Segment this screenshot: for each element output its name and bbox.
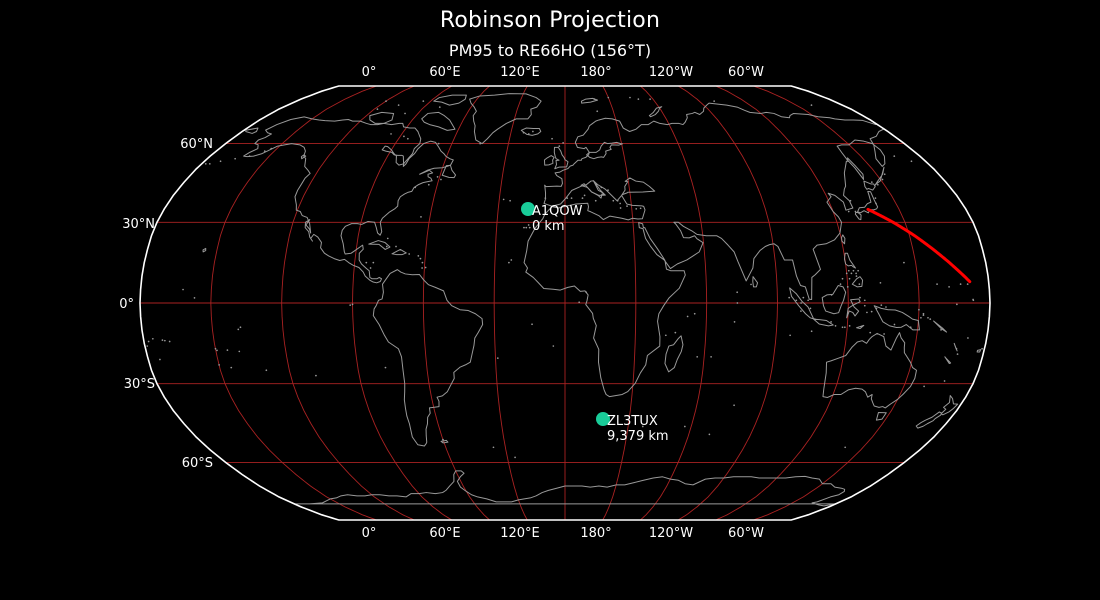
lon-tick-bottom: 60°W — [728, 526, 764, 541]
island-dot — [795, 299, 797, 301]
station-callsign-a1qow: A1QOW — [532, 204, 583, 219]
island-dot — [871, 181, 873, 183]
island-dot — [551, 138, 553, 140]
island-dot — [649, 98, 651, 100]
island-dot — [387, 238, 389, 240]
island-dot — [395, 246, 397, 248]
island-dot — [385, 367, 387, 369]
coastline-hawaii — [203, 248, 206, 251]
coastline-timor — [857, 325, 864, 328]
island-dot — [493, 446, 495, 448]
island-dot — [972, 299, 974, 301]
island-dot — [531, 323, 533, 325]
island-dot — [607, 97, 609, 99]
island-dot — [967, 337, 969, 339]
island-dot — [528, 224, 530, 226]
island-dot — [884, 173, 886, 175]
island-dot — [510, 259, 512, 261]
coastline-cuba — [369, 241, 390, 250]
island-dot — [948, 286, 950, 288]
island-dot — [270, 148, 272, 150]
island-dot — [894, 324, 896, 326]
island-dot — [665, 334, 667, 336]
island-dot — [856, 275, 858, 277]
coastline-new-caledonia — [945, 357, 951, 364]
island-dot — [370, 267, 372, 269]
coastline-british-isles — [554, 147, 568, 168]
island-dot — [582, 197, 584, 199]
island-dot — [885, 306, 887, 308]
island-dot — [216, 350, 218, 352]
island-dot — [807, 299, 809, 301]
island-dot — [849, 325, 851, 327]
coastline-japan-hokkaido — [864, 181, 875, 190]
coastline-victoria-is — [370, 112, 394, 123]
island-dot — [903, 262, 905, 264]
island-dot — [227, 349, 229, 351]
island-dot — [871, 311, 873, 313]
island-dot — [390, 133, 392, 135]
island-dot — [422, 100, 424, 102]
island-dot — [923, 386, 925, 388]
island-dot — [911, 160, 913, 162]
island-dot — [593, 98, 595, 100]
lon-tick-bottom: 60°E — [429, 526, 460, 541]
island-dot — [596, 110, 598, 112]
island-dot — [893, 155, 895, 157]
island-dot — [525, 227, 527, 229]
island-dot — [918, 309, 920, 311]
map-figure: Robinson Projection PM95 to RE66HO (156°… — [0, 0, 1100, 600]
island-dot — [620, 207, 622, 209]
island-dot — [696, 356, 698, 358]
island-dot — [855, 273, 857, 275]
coastline-vanuatu — [954, 343, 957, 351]
island-dot — [859, 297, 861, 299]
island-dot — [831, 294, 833, 296]
island-dot — [385, 100, 387, 102]
island-dot — [404, 113, 406, 115]
island-dot — [438, 143, 440, 145]
coastline-falklands — [441, 440, 448, 443]
island-dot — [929, 318, 931, 320]
island-dot — [552, 345, 554, 347]
island-dot — [220, 160, 222, 162]
island-dot — [532, 131, 534, 133]
lat-tick-left: 60°S — [182, 456, 213, 471]
lon-tick-bottom: 0° — [362, 526, 377, 541]
island-dot — [940, 329, 942, 331]
coastline-java — [814, 319, 834, 326]
island-dot — [528, 133, 530, 135]
island-dot — [855, 211, 857, 213]
lon-tick-top: 60°E — [429, 65, 460, 80]
island-dot — [420, 258, 422, 260]
coastline-tasmania — [876, 412, 886, 420]
island-dot — [842, 326, 844, 328]
island-dot — [789, 334, 791, 336]
robinson-map-canvas[interactable]: A1QOW0 kmZL3TUX9,379 km 0°60°E120°E180°1… — [0, 0, 1100, 600]
lon-tick-top: 60°W — [728, 65, 764, 80]
coastline-australia — [823, 333, 917, 408]
island-dot — [638, 98, 640, 100]
coastline-fiji — [977, 350, 981, 352]
island-dot — [880, 304, 882, 306]
island-dot — [960, 283, 962, 285]
coastline-ireland — [544, 156, 554, 166]
island-dot — [687, 316, 689, 318]
island-dot — [866, 312, 868, 314]
island-dot — [425, 267, 427, 269]
island-dot — [750, 284, 752, 286]
station-callsign-zl3tux: ZL3TUX — [607, 414, 658, 429]
lat-tick-left: 60°N — [180, 137, 213, 152]
lon-tick-top: 180° — [580, 65, 611, 80]
lat-tick-left: 30°S — [124, 377, 155, 392]
island-dot — [421, 267, 423, 269]
island-dot — [509, 200, 511, 202]
island-dot — [848, 211, 850, 213]
island-dot — [920, 317, 922, 319]
island-dot — [146, 345, 148, 347]
island-dot — [936, 283, 938, 285]
island-dot — [864, 305, 866, 307]
island-dot — [562, 142, 564, 144]
island-dot — [442, 439, 444, 441]
coastline-south-america — [373, 270, 482, 446]
island-dot — [508, 262, 510, 264]
island-dot — [619, 203, 621, 205]
island-dot — [558, 145, 560, 147]
island-dot — [674, 332, 676, 334]
coastline-antarctica — [294, 471, 844, 506]
coastline-greenland — [470, 94, 541, 144]
island-dot — [372, 262, 374, 264]
island-dot — [414, 187, 416, 189]
island-dot — [635, 208, 637, 210]
island-dot — [215, 348, 217, 350]
island-dot — [859, 283, 861, 285]
island-dot — [810, 308, 812, 310]
coastline-iceland — [521, 128, 540, 135]
island-dot — [420, 216, 422, 218]
island-dot — [710, 356, 712, 358]
island-dot — [842, 278, 844, 280]
island-dot — [209, 163, 211, 165]
lon-tick-top: 120°W — [649, 65, 693, 80]
island-dot — [439, 106, 441, 108]
island-dot — [440, 179, 442, 181]
island-dot — [840, 283, 842, 285]
coastline-nz-south — [916, 412, 941, 428]
island-dot — [152, 338, 154, 340]
island-dot — [850, 200, 852, 202]
island-dot — [612, 200, 614, 202]
island-dot — [733, 404, 735, 406]
island-dot — [844, 446, 846, 448]
island-dot — [848, 270, 850, 272]
island-dot — [428, 184, 430, 186]
island-dot — [629, 97, 631, 99]
island-dot — [910, 326, 912, 328]
coastline-sri-lanka — [753, 277, 758, 287]
island-dot — [811, 330, 813, 332]
island-dot — [566, 197, 568, 199]
island-dot — [788, 297, 790, 299]
island-dot — [883, 333, 885, 335]
island-dot — [595, 200, 597, 202]
island-dot — [927, 317, 929, 319]
island-dot — [205, 163, 207, 165]
island-dot — [811, 104, 813, 106]
island-dot — [164, 340, 166, 342]
island-dot — [264, 150, 266, 152]
island-dot — [882, 179, 884, 181]
island-dot — [846, 273, 848, 275]
island-dot — [162, 339, 164, 341]
island-dot — [734, 321, 736, 323]
island-dot — [265, 369, 267, 371]
island-dot — [876, 308, 878, 310]
coastline-madagascar — [665, 336, 683, 372]
island-dot — [523, 132, 525, 134]
lat-tick-left: 30°N — [122, 217, 155, 232]
coastline-borneo — [822, 286, 845, 314]
island-dot — [944, 380, 946, 382]
island-dot — [857, 270, 859, 272]
island-dot — [877, 184, 879, 186]
island-dot — [713, 100, 715, 102]
island-dot — [849, 278, 851, 280]
coastline-novaya-zemlya — [649, 107, 661, 117]
island-dot — [234, 158, 236, 160]
coastline-japan-kyushu — [855, 212, 861, 219]
island-dot — [398, 104, 400, 106]
island-dot — [544, 197, 546, 199]
island-dot — [802, 297, 804, 299]
island-dot — [800, 302, 802, 304]
island-dot — [640, 207, 642, 209]
station-distance-a1qow: 0 km — [532, 219, 565, 234]
island-dot — [844, 326, 846, 328]
island-dot — [607, 189, 609, 191]
island-dot — [349, 304, 351, 306]
island-dot — [956, 348, 958, 350]
island-dot — [422, 262, 424, 264]
island-dot — [981, 348, 983, 350]
island-dot — [923, 313, 925, 315]
island-dot — [169, 341, 171, 343]
coastline-ellesmere — [434, 95, 467, 105]
island-dot — [584, 195, 586, 197]
island-dot — [694, 313, 696, 315]
island-dot — [578, 301, 580, 303]
island-dot — [709, 434, 711, 436]
island-dot — [736, 291, 738, 293]
island-dot — [601, 187, 603, 189]
island-dot — [218, 364, 220, 366]
island-dot — [956, 304, 958, 306]
great-circle-path — [868, 209, 970, 281]
island-dot — [408, 253, 410, 255]
island-dot — [529, 227, 531, 229]
island-dot — [875, 197, 877, 199]
coastline-sakhalin — [847, 158, 863, 180]
island-dot — [503, 199, 505, 201]
lon-tick-bottom: 120°E — [500, 526, 540, 541]
island-dot — [847, 286, 849, 288]
island-dot — [352, 304, 354, 306]
island-dot — [523, 227, 525, 229]
island-dot — [148, 341, 150, 343]
coastline-new-guinea — [874, 306, 919, 330]
island-dot — [585, 291, 587, 293]
island-dot — [237, 329, 239, 331]
island-dot — [830, 321, 832, 323]
lon-tick-bottom: 180° — [580, 526, 611, 541]
island-dot — [238, 351, 240, 353]
island-dot — [684, 426, 686, 428]
island-dot — [365, 262, 367, 264]
lon-tick-top: 0° — [362, 65, 377, 80]
station-distance-zl3tux: 9,379 km — [607, 429, 669, 444]
coastline-north-america — [244, 117, 454, 283]
lat-tick-left: 0° — [119, 297, 134, 312]
island-dot — [851, 273, 853, 275]
coastline-baffin — [422, 112, 455, 130]
island-dot — [377, 108, 379, 110]
coastline-scandinavia-baltic — [587, 142, 623, 158]
island-dot — [417, 255, 419, 257]
island-dot — [875, 203, 877, 205]
island-dot — [617, 200, 619, 202]
island-dot — [514, 457, 516, 459]
coastline-eurasia-africa — [545, 103, 876, 187]
island-dot — [403, 135, 405, 137]
island-dot — [194, 297, 196, 299]
island-dot — [159, 359, 161, 361]
island-dot — [315, 375, 317, 377]
great-circle-line — [868, 209, 970, 281]
island-dot — [967, 283, 969, 285]
lon-tick-top: 120°E — [500, 65, 540, 80]
island-dot — [626, 205, 628, 207]
coastline-solomon — [934, 321, 947, 332]
island-dot — [957, 353, 959, 355]
island-dot — [249, 155, 251, 157]
lon-tick-bottom: 120°W — [649, 526, 693, 541]
island-dot — [571, 197, 573, 199]
island-dot — [737, 302, 739, 304]
island-dot — [497, 357, 499, 359]
island-dot — [407, 138, 409, 140]
coastline-philippines-mindanao — [852, 277, 862, 287]
island-dot — [386, 246, 388, 248]
island-dot — [479, 143, 481, 145]
island-dot — [814, 318, 816, 320]
island-dot — [835, 325, 837, 327]
island-dot — [800, 310, 802, 312]
island-dot — [880, 282, 882, 284]
island-dot — [869, 332, 871, 334]
coastline-hispaniola — [392, 249, 406, 254]
island-dot — [182, 289, 184, 291]
island-dot — [240, 326, 242, 328]
island-dot — [853, 270, 855, 272]
island-dot — [230, 367, 232, 369]
island-dot — [864, 299, 866, 301]
island-dot — [437, 176, 439, 178]
